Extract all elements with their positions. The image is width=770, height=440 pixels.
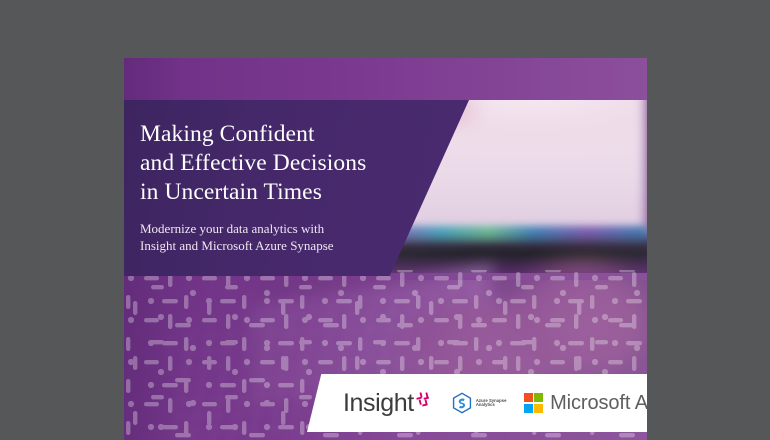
logo-row: Insight (343, 374, 637, 432)
headline-line-3: in Uncertain Times (140, 178, 440, 207)
page-title: Making Confident and Effective Decisions… (140, 120, 440, 207)
cover-text-block: Making Confident and Effective Decisions… (140, 120, 440, 255)
azure-synapse-line-2: Analytics (476, 403, 507, 407)
insight-logo[interactable]: Insight (343, 391, 434, 416)
subtitle-line-1: Modernize your data analytics with (140, 220, 440, 237)
microsoft-azure-logo[interactable]: Microsoft Azure (524, 392, 647, 415)
ms-square-red (524, 393, 533, 402)
headline-line-2: and Effective Decisions (140, 149, 440, 178)
microsoft-azure-wordmark: Microsoft Azure (550, 392, 647, 415)
ms-square-yellow (534, 404, 543, 413)
insight-wordmark: Insight (343, 391, 414, 416)
azure-synapse-hexagon-icon (451, 392, 473, 414)
ms-square-green (534, 393, 543, 402)
screenshot-canvas: Making Confident and Effective Decisions… (0, 0, 770, 440)
azure-synapse-logo[interactable]: Azure Synapse Analytics (451, 392, 507, 414)
ms-square-blue (524, 404, 533, 413)
subtitle-line-2: Insight and Microsoft Azure Synapse (140, 237, 440, 254)
insight-crosshatch-mark (415, 392, 434, 411)
microsoft-four-squares-logo (524, 393, 544, 413)
brochure-cover-card[interactable]: Making Confident and Effective Decisions… (124, 58, 647, 440)
azure-synapse-wordmark: Azure Synapse Analytics (476, 399, 507, 408)
partner-logo-bar: Insight (307, 374, 647, 432)
purple-top-band (124, 58, 647, 100)
headline-line-1: Making Confident (140, 120, 440, 149)
page-subtitle: Modernize your data analytics with Insig… (140, 220, 440, 255)
